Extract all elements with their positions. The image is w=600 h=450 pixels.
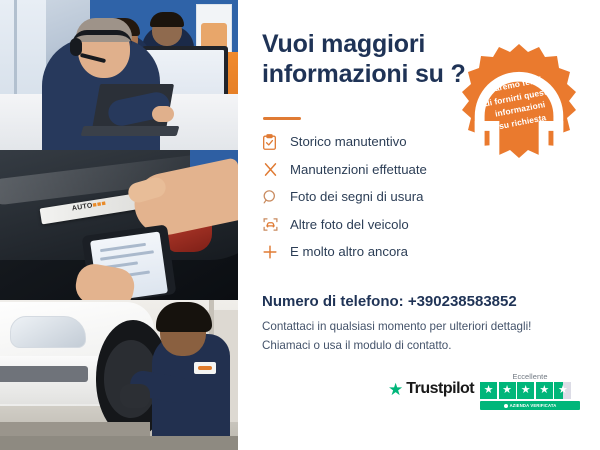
phone-number-label: Numero di telefono: +390238583852: [262, 293, 517, 310]
list-item: Altre foto del veicolo: [262, 211, 492, 239]
trustpilot-star-rating: ★ ★ ★ ★ ★: [480, 382, 580, 399]
uniform-logo-patch: [194, 362, 216, 374]
trustpilot-star-icon: ★: [388, 381, 403, 398]
list-item-label: Foto dei segni di usura: [290, 189, 423, 204]
verified-company-label: AZIENDA VERIFICATA: [510, 403, 557, 408]
car-grille: [0, 366, 88, 382]
rating-star: ★: [554, 382, 571, 399]
mechanic-glove: [120, 384, 150, 408]
rating-star: ★: [499, 382, 516, 399]
trustpilot-rating-label: Eccellente: [480, 372, 580, 381]
trustpilot-wordmark: Trustpilot: [406, 380, 474, 398]
contact-description-line-2: Chiamaci o usa il modulo di contatto.: [262, 337, 562, 356]
list-item: Manutenzioni effettuate: [262, 156, 492, 184]
rating-star: ★: [480, 382, 497, 399]
agent-hand: [152, 106, 174, 122]
mechanic-hair: [156, 302, 212, 332]
list-item: Foto dei segni di usura: [262, 183, 492, 211]
list-item-label: Manutenzioni effettuate: [290, 162, 427, 177]
photo-call-center: [0, 0, 238, 150]
title-underline-divider: [263, 117, 301, 120]
contact-description: Contattaci in qualsiasi momento per ulte…: [262, 318, 562, 356]
plus-icon: [262, 244, 290, 260]
content-panel: Vuoi maggiori informazioni su ? Saremo f…: [238, 0, 600, 450]
magnifier-icon: [262, 189, 290, 205]
page-title-line-1: Vuoi maggiori: [262, 30, 477, 60]
car-headlight: [10, 316, 86, 348]
wrench-tools-icon: [262, 161, 290, 178]
rating-star: ★: [517, 382, 534, 399]
list-item: Storico manutentivo: [262, 128, 492, 156]
verified-check-icon: [504, 404, 508, 408]
photo-vehicle-inspection: AUTO■■■: [0, 150, 238, 300]
garage-floor: [0, 436, 238, 450]
photo-mechanic-wheel: [0, 300, 238, 450]
agent-hair-3: [150, 12, 184, 27]
list-item-label: E molto altro ancora: [290, 244, 408, 259]
page-title-line-2: informazioni su ?: [262, 60, 477, 90]
list-item-label: Storico manutentivo: [290, 134, 407, 149]
rating-star: ★: [536, 382, 553, 399]
advertisement-banner: AUTO■■■: [0, 0, 600, 450]
feature-list: Storico manutentivo Manutenzioni effettu…: [262, 128, 492, 266]
list-item-label: Altre foto del veicolo: [290, 217, 409, 232]
contact-description-line-1: Contattaci in qualsiasi momento per ulte…: [262, 318, 562, 337]
page-title: Vuoi maggiori informazioni su ?: [262, 30, 477, 89]
photo-column: AUTO■■■: [0, 0, 238, 450]
trustpilot-widget[interactable]: ★ Trustpilot Eccellente ★ ★ ★ ★ ★ AZIEND…: [388, 372, 584, 418]
trustpilot-rating: Eccellente ★ ★ ★ ★ ★ AZIENDA VERIFICATA: [480, 372, 580, 410]
list-item: E molto altro ancora: [262, 238, 492, 266]
car-scan-icon: [262, 216, 290, 233]
laptop-keyboard: [81, 126, 180, 136]
clipboard-check-icon: [262, 134, 290, 150]
verified-company-badge: AZIENDA VERIFICATA: [480, 401, 580, 410]
trustpilot-logo: ★ Trustpilot: [388, 380, 474, 398]
